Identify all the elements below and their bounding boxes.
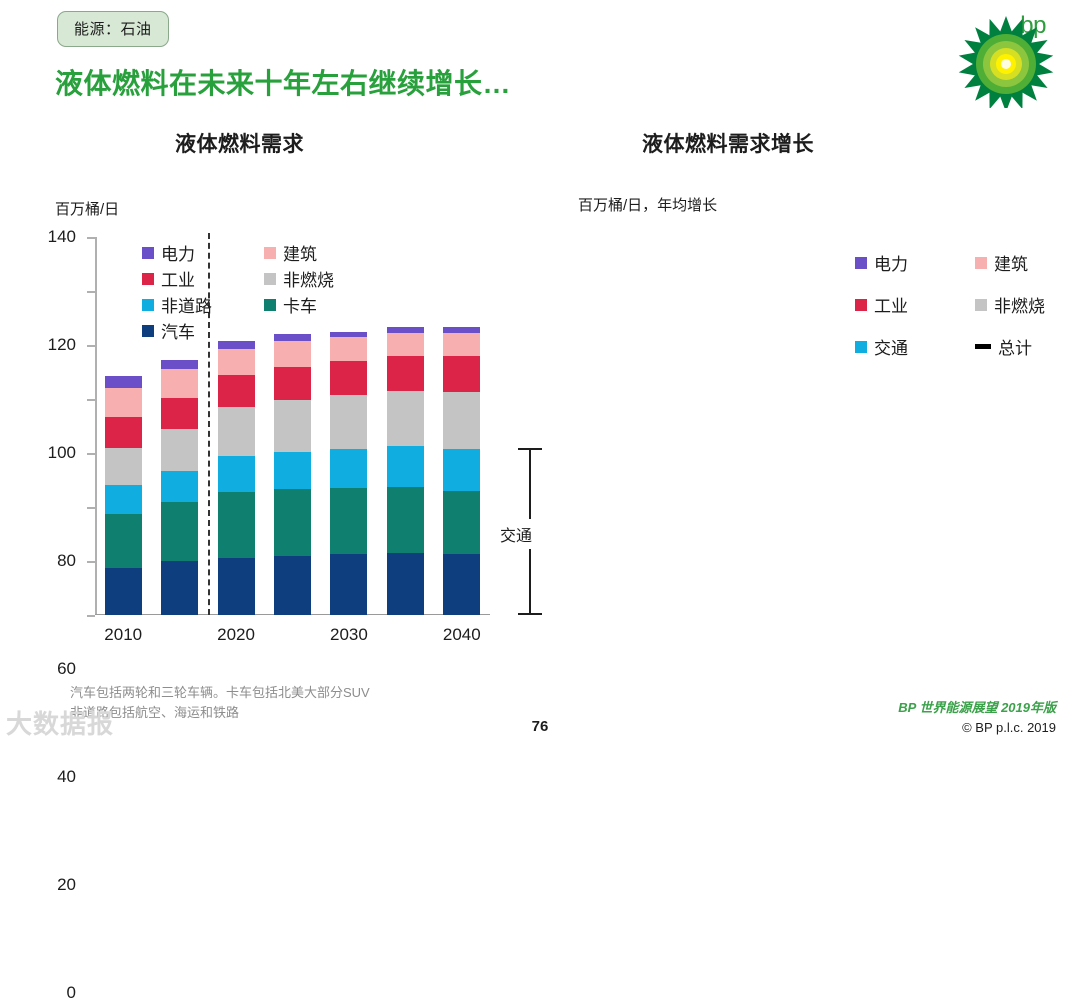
x-tick-label: 2020 xyxy=(217,625,255,644)
bar-stack xyxy=(387,237,424,615)
legend-right: 电力建筑工业非燃烧交通总计 xyxy=(855,250,1080,360)
legend-item-total: 总计 xyxy=(975,334,1032,359)
bar-segment-non_road xyxy=(105,485,142,513)
bar-segment-non_combusted xyxy=(443,392,480,449)
bar-segment-trucks xyxy=(443,491,480,554)
legend-label: 非燃烧 xyxy=(283,266,334,291)
bar-segment-cars xyxy=(443,554,480,615)
y-tick: 80 xyxy=(87,399,95,401)
y-tick: 140 xyxy=(87,237,95,239)
bar-segment-non_road xyxy=(218,456,255,492)
bar-segment-trucks xyxy=(105,514,142,568)
bar-segment-cars xyxy=(161,561,198,615)
y-tick-label: 0 xyxy=(67,983,76,1003)
bar-stack xyxy=(443,237,480,615)
legend-swatch-industry xyxy=(855,299,867,311)
copyright: © BP p.l.c. 2019 xyxy=(898,718,1056,738)
source-title: BP 世界能源展望 2019年版 xyxy=(898,698,1056,718)
legend-label: 电力 xyxy=(161,240,195,265)
legend-swatch-non_combusted xyxy=(975,299,987,311)
legend-item-buildings: 建筑 xyxy=(975,250,1028,275)
bar-segment-industry xyxy=(105,417,142,448)
bar-segment-non_road xyxy=(443,449,480,491)
y-tick: 0 xyxy=(87,615,95,617)
legend-swatch-power xyxy=(855,257,867,269)
bar-segment-cars xyxy=(218,558,255,615)
bar-segment-power xyxy=(161,360,198,369)
legend-swatch-non_road xyxy=(142,299,154,311)
bar-segment-power xyxy=(387,327,424,332)
bar-segment-non_combusted xyxy=(218,407,255,456)
bar-segment-buildings xyxy=(387,333,424,356)
y-tick-label: 20 xyxy=(57,875,76,895)
bar-segment-buildings xyxy=(443,333,480,356)
legend-label: 卡车 xyxy=(283,292,317,317)
legend-swatch-non_combusted xyxy=(264,273,276,285)
bar-segment-non_combusted xyxy=(274,400,311,451)
bar-segment-non_combusted xyxy=(387,391,424,446)
bar-segment-industry xyxy=(387,356,424,391)
bar-segment-industry xyxy=(443,356,480,392)
bar-segment-cars xyxy=(387,553,424,615)
bar-segment-industry xyxy=(330,361,367,395)
legend-swatch-power xyxy=(142,247,154,259)
y-axis-unit-right: 百万桶/日，年均增长 xyxy=(578,194,717,215)
legend-label: 电力 xyxy=(874,250,908,275)
x-tick-label: 2030 xyxy=(330,625,368,644)
bar-segment-non_road xyxy=(330,449,367,488)
legend-swatch-trucks xyxy=(264,299,276,311)
legend-item-non_combusted: 非燃烧 xyxy=(264,266,334,291)
legend-swatch-buildings xyxy=(264,247,276,259)
y-axis-left xyxy=(95,237,97,615)
bar-segment-trucks xyxy=(161,502,198,561)
y-tick: 100 xyxy=(87,345,95,347)
bar-segment-industry xyxy=(274,367,311,401)
bar-segment-buildings xyxy=(161,369,198,397)
legend-swatch-total xyxy=(975,344,991,349)
legend-swatch-buildings xyxy=(975,257,987,269)
bar-segment-power xyxy=(105,376,142,388)
legend-label: 汽车 xyxy=(161,318,195,343)
bar-segment-non_combusted xyxy=(330,395,367,449)
y-tick-label: 100 xyxy=(48,443,76,463)
legend-label: 非道路 xyxy=(161,292,212,317)
bar-segment-non_road xyxy=(161,471,198,502)
legend-item-buildings: 建筑 xyxy=(264,240,317,265)
legend-label: 非燃烧 xyxy=(994,292,1045,317)
y-tick: 20 xyxy=(87,561,95,563)
legend-swatch-cars xyxy=(142,325,154,337)
bar-segment-non_combusted xyxy=(161,429,198,471)
y-tick-label: 60 xyxy=(57,659,76,679)
bar-segment-cars xyxy=(105,568,142,615)
bar-segment-trucks xyxy=(330,488,367,554)
bar-segment-industry xyxy=(218,375,255,407)
bar-segment-trucks xyxy=(387,487,424,553)
legend-label: 交通 xyxy=(874,334,908,359)
chart-panel-demand: 液体燃料需求 百万桶/日 020406080100120140 20102020… xyxy=(0,0,560,748)
legend-item-cars: 汽车 xyxy=(142,318,195,343)
bar-segment-cars xyxy=(274,556,311,615)
bar-segment-buildings xyxy=(105,388,142,416)
bar-segment-non_road xyxy=(387,446,424,487)
legend-label: 总计 xyxy=(998,334,1032,359)
legend-item-power: 电力 xyxy=(855,250,908,275)
legend-label: 建筑 xyxy=(994,250,1028,275)
legend-item-transport: 交通 xyxy=(855,334,908,359)
chart-panel-growth: 液体燃料需求增长 百万桶/日，年均增长 -0.50.00.51.01.52.0 … xyxy=(560,0,1080,748)
legend-swatch-industry xyxy=(142,273,154,285)
legend-left: 电力建筑工业非燃烧非道路卡车汽车 xyxy=(142,240,372,350)
chart-title-right: 液体燃料需求增长 xyxy=(642,128,814,158)
x-tick-label: 2010 xyxy=(104,625,142,644)
y-tick-label: 80 xyxy=(57,551,76,571)
legend-item-power: 电力 xyxy=(142,240,195,265)
legend-item-industry: 工业 xyxy=(142,266,195,291)
bar-segment-power xyxy=(443,327,480,332)
y-tick: 60 xyxy=(87,453,95,455)
bar-stack xyxy=(105,237,142,615)
y-tick: 40 xyxy=(87,507,95,509)
y-tick-label: 40 xyxy=(57,767,76,787)
footnote-1: 汽车包括两轮和三轮车辆。卡车包括北美大部分SUV xyxy=(70,683,370,703)
y-tick: 120 xyxy=(87,291,95,293)
chart-title-left: 液体燃料需求 xyxy=(175,128,304,158)
source-line: BP 世界能源展望 2019年版 © BP p.l.c. 2019 xyxy=(898,698,1056,737)
legend-label: 工业 xyxy=(874,292,908,317)
bar-segment-buildings xyxy=(218,349,255,375)
bar-segment-trucks xyxy=(274,489,311,555)
legend-item-industry: 工业 xyxy=(855,292,908,317)
x-tick-label: 2040 xyxy=(443,625,481,644)
y-tick-label: 120 xyxy=(48,335,76,355)
y-axis-unit-left: 百万桶/日 xyxy=(55,198,119,219)
bar-segment-industry xyxy=(161,398,198,429)
bar-segment-non_combusted xyxy=(105,448,142,486)
y-tick-label: 140 xyxy=(48,227,76,247)
transport-bracket-label: 交通 xyxy=(498,519,534,549)
legend-label: 建筑 xyxy=(283,240,317,265)
bar-segment-trucks xyxy=(218,492,255,558)
bar-segment-non_road xyxy=(274,452,311,490)
legend-swatch-transport xyxy=(855,341,867,353)
legend-item-non_road: 非道路 xyxy=(142,292,212,317)
bar-segment-cars xyxy=(330,554,367,615)
legend-item-non_combusted: 非燃烧 xyxy=(975,292,1045,317)
legend-item-trucks: 卡车 xyxy=(264,292,317,317)
legend-label: 工业 xyxy=(161,266,195,291)
